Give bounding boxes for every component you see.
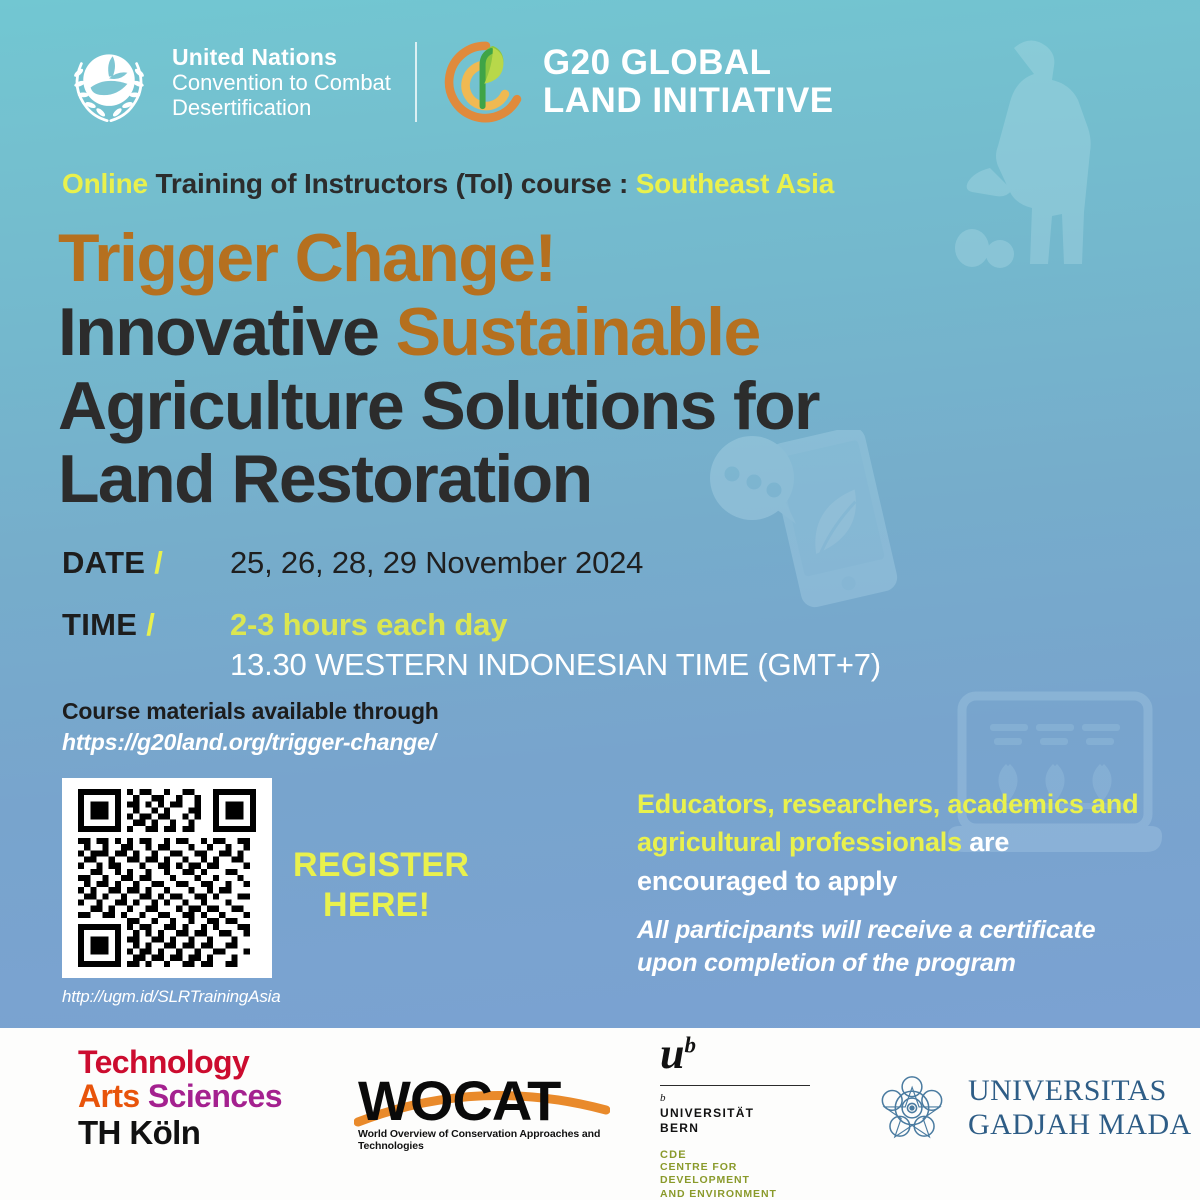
header-divider — [415, 42, 417, 122]
course-subtitle: Online Training of Instructors (ToI) cou… — [62, 168, 834, 200]
farmer-silhouette-watermark — [942, 18, 1142, 268]
g20-logo: G20 GLOBAL LAND INITIATIVE — [443, 38, 834, 126]
cde-abbreviation: CDE — [660, 1149, 825, 1161]
time-label: TIME/ — [62, 607, 230, 643]
university-bern-cde-logo: ub b UNIVERSITÄT BERN CDE CENTRE FOR DEV… — [660, 1034, 825, 1201]
unccd-line-3: Desertification — [172, 95, 391, 120]
header-logos: United Nations Convention to Combat Dese… — [62, 34, 834, 130]
meta-spacer — [62, 581, 881, 607]
audience-plain-1: are — [962, 827, 1009, 857]
materials-url[interactable]: https://g20land.org/trigger-change/ — [62, 729, 439, 756]
headline-line-2: Innovative Sustainable — [58, 296, 819, 370]
bern-universitaet: UNIVERSITÄT — [660, 1106, 825, 1121]
bern-university-label: UNIVERSITÄT BERN — [660, 1106, 825, 1137]
qr-code-icon — [73, 789, 261, 967]
th-koeln-arts-sciences: Arts Sciences — [78, 1080, 282, 1114]
certificate-note-line-1: All participants will receive a certific… — [637, 914, 1157, 947]
ugm-wordmark: UNIVERSITAS GADJAH MADA — [968, 1074, 1192, 1141]
audience-highlight-1: Educators, researchers, academics — [637, 789, 1084, 819]
cde-line-1: CENTRE FOR DEVELOPMENT — [660, 1161, 825, 1188]
date-value: 25, 26, 28, 29 November 2024 — [230, 545, 643, 581]
bern-divider — [660, 1085, 810, 1087]
th-koeln-name: TH Köln — [78, 1116, 282, 1151]
unccd-line-1: United Nations — [172, 44, 391, 70]
certificate-note: All participants will receive a certific… — [637, 914, 1157, 980]
headline-line-4: Land Restoration — [58, 443, 819, 517]
date-label: DATE/ — [62, 545, 230, 581]
universitas-gadjah-mada-logo: UNIVERSITAS GADJAH MADA — [874, 1070, 1192, 1146]
wocat-logo: WOCAT World Overview of Conservation App… — [358, 1068, 608, 1152]
ugm-emblem-icon — [874, 1070, 950, 1146]
poster-hero: United Nations Convention to Combat Dese… — [0, 0, 1200, 1028]
cde-line-2: AND ENVIRONMENT — [660, 1188, 825, 1201]
g20-line-2: LAND INITIATIVE — [543, 82, 834, 121]
course-materials: Course materials available through https… — [62, 698, 439, 756]
qr-caption-url: http://ugm.id/SLRTrainingAsia — [62, 987, 280, 1007]
bern-small-b: b — [660, 1092, 825, 1104]
time-duration: 2-3 hours each day — [230, 607, 881, 643]
poster: United Nations Convention to Combat Dese… — [0, 0, 1200, 1200]
th-koeln-logo: Technology Arts Sciences TH Köln — [78, 1046, 282, 1151]
cde-full-name: CENTRE FOR DEVELOPMENT AND ENVIRONMENT — [660, 1161, 825, 1201]
headline-line-1: Trigger Change! — [58, 222, 819, 296]
register-here-cta[interactable]: REGISTER HERE! — [293, 845, 469, 925]
qr-code[interactable] — [62, 778, 272, 978]
bern-b-superscript: b — [684, 1032, 696, 1057]
g20-leaf-ring-icon — [443, 38, 529, 126]
unccd-logo: United Nations Convention to Combat Dese… — [62, 36, 391, 128]
wocat-mark: WOCAT — [358, 1068, 608, 1124]
th-koeln-sciences: Sciences — [148, 1078, 282, 1114]
th-koeln-technology: Technology — [78, 1046, 282, 1080]
audience-block: Educators, researchers, academics and ag… — [637, 785, 1157, 980]
bern-city: BERN — [660, 1121, 825, 1136]
bern-u-mark: ub — [660, 1034, 825, 1074]
time-row: TIME/ 2-3 hours each day 13.30 WESTERN I… — [62, 607, 881, 683]
materials-label: Course materials available through — [62, 698, 439, 725]
g20-wordmark: G20 GLOBAL LAND INITIATIVE — [543, 44, 834, 121]
headline-line-3: Agriculture Solutions for — [58, 370, 819, 444]
time-values: 2-3 hours each day 13.30 WESTERN INDONES… — [230, 607, 881, 683]
headline-innovative: Innovative — [58, 294, 396, 370]
qr-block: http://ugm.id/SLRTrainingAsia — [62, 778, 280, 1007]
register-line-2: HERE! — [293, 885, 469, 925]
audience-statement: Educators, researchers, academics and ag… — [637, 785, 1157, 900]
ugm-line-1: UNIVERSITAS — [968, 1074, 1192, 1108]
ugm-line-2: GADJAH MADA — [968, 1108, 1192, 1142]
date-row: DATE/ 25, 26, 28, 29 November 2024 — [62, 545, 881, 581]
g20-line-1: G20 GLOBAL — [543, 44, 834, 83]
subtitle-online: Online — [62, 168, 148, 199]
time-slash: / — [146, 607, 155, 642]
time-zone: 13.30 WESTERN INDONESIAN TIME (GMT+7) — [230, 647, 881, 683]
subtitle-course: Training of Instructors (ToI) course : — [156, 168, 629, 199]
audience-plain-2: encouraged to apply — [637, 866, 897, 896]
th-koeln-arts: Arts — [78, 1078, 148, 1114]
unccd-emblem-icon — [62, 36, 156, 128]
event-meta: DATE/ 25, 26, 28, 29 November 2024 TIME/… — [62, 545, 881, 683]
date-slash: / — [154, 545, 163, 580]
certificate-note-line-2: upon completion of the program — [637, 947, 1157, 980]
page-title: Trigger Change! Innovative Sustainable A… — [58, 222, 819, 517]
register-line-1: REGISTER — [293, 845, 469, 885]
unccd-wordmark: United Nations Convention to Combat Dese… — [172, 44, 391, 120]
subtitle-region: Southeast Asia — [636, 168, 834, 199]
headline-sustainable: Sustainable — [396, 294, 760, 370]
unccd-line-2: Convention to Combat — [172, 70, 391, 95]
wocat-wordmark: WOCAT — [358, 1068, 608, 1133]
